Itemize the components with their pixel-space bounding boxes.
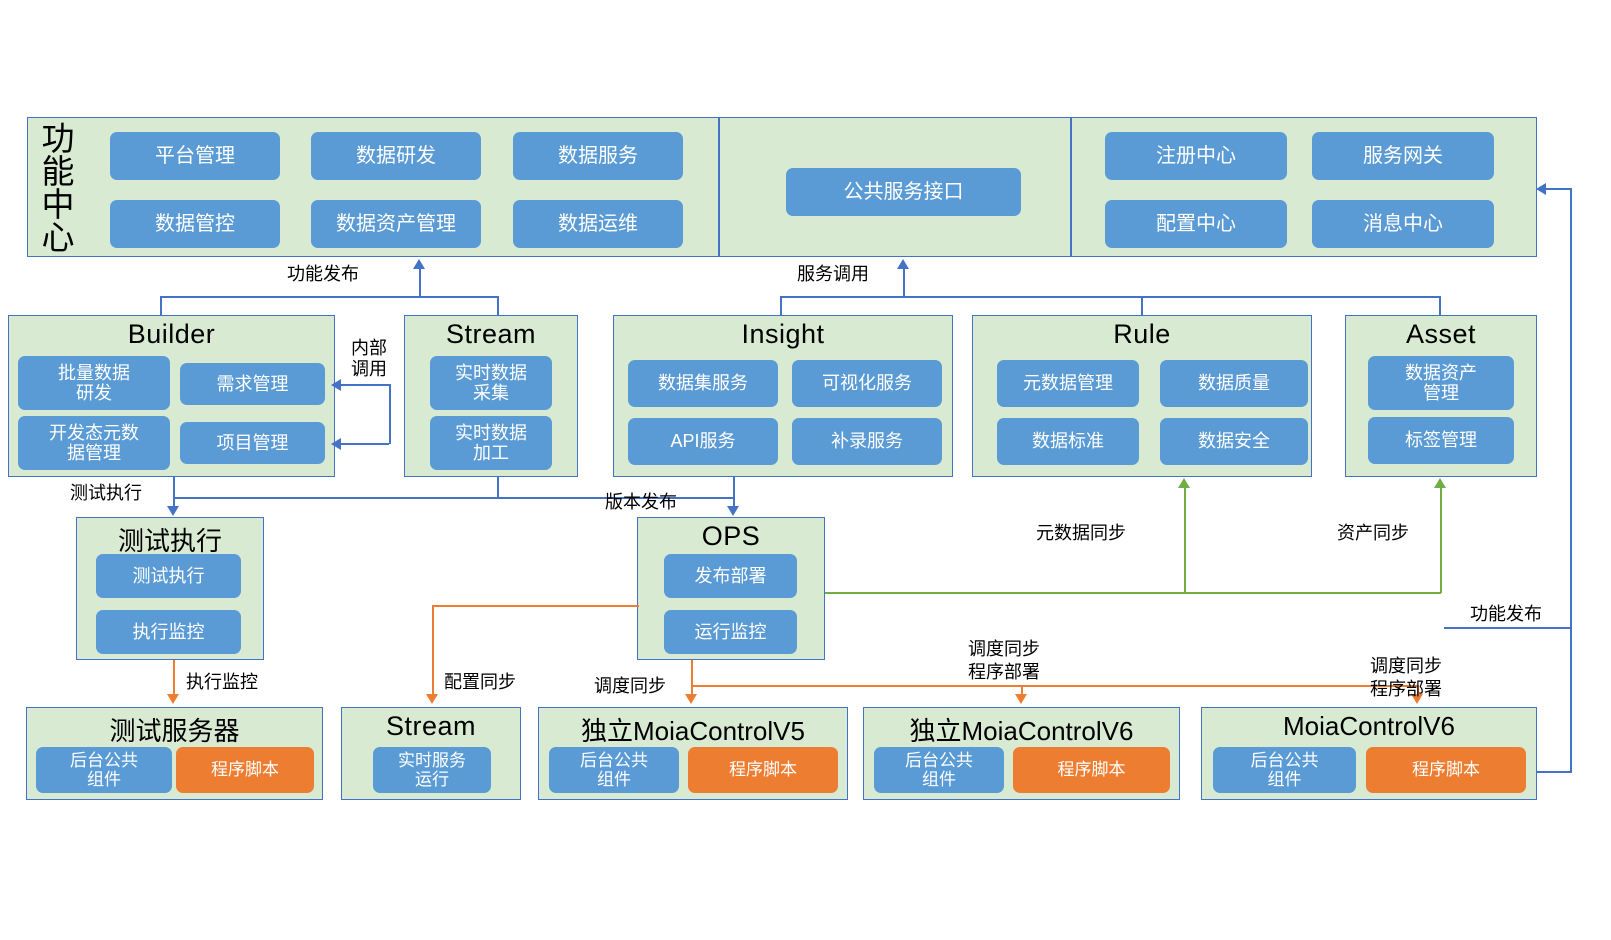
group-builder-title: Builder [8,319,335,350]
label-function-publish-right: 功能发布 [1470,603,1542,626]
label-internal-call: 内部 调用 [337,338,401,379]
chip-project-management[interactable]: 项目管理 [180,422,325,464]
chip-data-security[interactable]: 数据安全 [1160,418,1308,465]
chip-data-asset-mgmt[interactable]: 数据资产 管理 [1368,356,1514,410]
chip-program-script-4[interactable]: 程序脚本 [1366,747,1526,793]
arrow-version-publish [727,506,739,516]
arrow-test-execution [167,506,179,516]
label-schedule-sync-deploy-right: 调度同步 程序部署 [1370,655,1442,702]
label-metadata-sync: 元数据同步 [1036,522,1126,545]
connector-stream-up [497,296,499,316]
chip-message-center[interactable]: 消息中心 [1312,200,1494,248]
chip-realtime-service-run[interactable]: 实时服务 运行 [373,747,491,793]
connector-builder-up [160,296,162,316]
group-moiacontrolv6-title: MoiaControlV6 [1201,711,1537,742]
chip-backend-common-component-4[interactable]: 后台公共 组件 [1213,747,1356,793]
connector-service-call-bus [780,296,1440,298]
chip-realtime-data-collection[interactable]: 实时数据 采集 [430,356,552,410]
connector-asset-sync-v [1440,487,1442,593]
connector-internal-call-vert [389,384,391,444]
chip-batch-data-development[interactable]: 批量数据 研发 [18,356,170,410]
chip-program-script-2[interactable]: 程序脚本 [688,747,838,793]
chip-data-development[interactable]: 数据研发 [311,132,481,180]
chip-visualization-service[interactable]: 可视化服务 [792,360,942,407]
connector-right-loop-vert [1570,188,1572,772]
connector-config-sync-v [432,605,434,695]
arrow-right-loop [1536,183,1546,195]
connector-right-loop-top [1546,188,1571,190]
side-label-char-3: 中 [35,188,81,221]
group-stream-title: Stream [404,319,578,350]
function-center-side-label: 功 能 中 心 [35,122,81,254]
group-standalone-moiacontrolv6-title: 独立MoiaControlV6 [863,711,1180,748]
chip-release-deploy[interactable]: 发布部署 [664,554,797,598]
label-version-publish: 版本发布 [605,491,677,514]
connector-test-exec-down-1 [173,477,175,509]
arrow-config-sync [426,694,438,704]
chip-config-center[interactable]: 配置中心 [1105,200,1287,248]
connector-rule-up [1141,296,1143,316]
group-ops-title: OPS [637,521,825,552]
arrow-exec-monitor [167,694,179,704]
chip-requirement-management[interactable]: 需求管理 [180,363,325,405]
chip-program-script-3[interactable]: 程序脚本 [1013,747,1170,793]
chip-public-service-interface[interactable]: 公共服务接口 [786,168,1021,216]
chip-dataset-service[interactable]: 数据集服务 [628,360,778,407]
chip-data-governance[interactable]: 数据管控 [110,200,280,248]
connector-schedule-sync-bus [691,685,1418,687]
architecture-diagram: 功 能 中 心 平台管理 数据研发 数据服务 数据管控 数据资产管理 数据运维 … [0,0,1611,940]
chip-data-service[interactable]: 数据服务 [513,132,683,180]
chip-test-execution[interactable]: 测试执行 [96,554,241,598]
chip-data-asset-management[interactable]: 数据资产管理 [311,200,481,248]
connector-function-publish-riser [419,268,421,297]
connector-service-call-riser [903,268,905,297]
label-function-publish-top: 功能发布 [287,263,359,286]
group-insight-title: Insight [613,319,953,350]
chip-backend-common-component-1[interactable]: 后台公共 组件 [36,747,172,793]
chip-tag-management[interactable]: 标签管理 [1368,417,1514,464]
connector-version-publish-from-insight [733,477,735,498]
label-service-call: 服务调用 [797,263,869,286]
chip-platform-management[interactable]: 平台管理 [110,132,280,180]
arrow-metadata-sync [1178,478,1190,488]
connector-asset-sync-h [825,592,1441,594]
connector-config-sync-h [432,605,639,607]
connector-function-publish-bus [160,296,498,298]
arrow-schedule-sync-v6 [1015,694,1027,704]
chip-execution-monitor[interactable]: 执行监控 [96,610,241,654]
arrow-internal-call-2 [331,438,341,450]
label-schedule-sync: 调度同步 [594,675,666,698]
arrow-schedule-sync-v5 [685,694,697,704]
chip-realtime-data-processing[interactable]: 实时数据 加工 [430,416,552,470]
label-test-execution: 测试执行 [70,482,142,505]
group-standalone-moiacontrolv5-title: 独立MoiaControlV5 [538,711,848,748]
group-test-server-title: 测试服务器 [26,711,323,748]
label-config-sync: 配置同步 [444,671,516,694]
connector-metadata-sync-v [1184,487,1186,593]
chip-backend-common-component-3[interactable]: 后台公共 组件 [874,747,1004,793]
side-label-char-1: 功 [35,122,81,155]
connector-right-loop-bottom [1537,771,1572,773]
chip-data-standard[interactable]: 数据标准 [997,418,1139,465]
group-test-execution-title: 测试执行 [76,521,264,558]
arrow-internal-call-1 [331,379,341,391]
connector-exec-monitor-v [173,660,175,695]
arrow-service-call [897,259,909,269]
group-rule-title: Rule [972,319,1312,350]
connector-version-publish-from-stream [497,477,499,498]
arrow-function-publish [413,259,425,269]
chip-supplement-service[interactable]: 补录服务 [792,418,942,465]
group-asset-title: Asset [1345,319,1537,350]
chip-data-quality[interactable]: 数据质量 [1160,360,1308,407]
label-exec-monitor: 执行监控 [186,671,258,694]
chip-backend-common-component-2[interactable]: 后台公共 组件 [549,747,679,793]
connector-right-loop-branch [1444,627,1570,629]
chip-api-service[interactable]: API服务 [628,418,778,465]
side-label-char-2: 能 [35,155,81,188]
connector-schedule-sync-from-ops [691,660,693,686]
chip-service-gateway[interactable]: 服务网关 [1312,132,1494,180]
connector-insight-up [780,296,782,316]
connector-internal-call-h1 [341,384,389,386]
chip-metadata-management[interactable]: 元数据管理 [997,360,1139,407]
group-server-stream-title: Stream [341,711,521,742]
chip-program-script-1[interactable]: 程序脚本 [176,747,314,793]
arrow-asset-sync [1434,478,1446,488]
label-schedule-sync-deploy-mid: 调度同步 程序部署 [968,638,1040,685]
connector-internal-call-h2 [341,443,389,445]
side-label-char-4: 心 [35,221,81,254]
chip-data-operations[interactable]: 数据运维 [513,200,683,248]
chip-registry-center[interactable]: 注册中心 [1105,132,1287,180]
chip-dev-metadata-management[interactable]: 开发态元数 据管理 [18,416,170,470]
chip-runtime-monitor[interactable]: 运行监控 [664,610,797,654]
label-asset-sync: 资产同步 [1337,522,1409,545]
connector-asset-up [1439,296,1441,316]
